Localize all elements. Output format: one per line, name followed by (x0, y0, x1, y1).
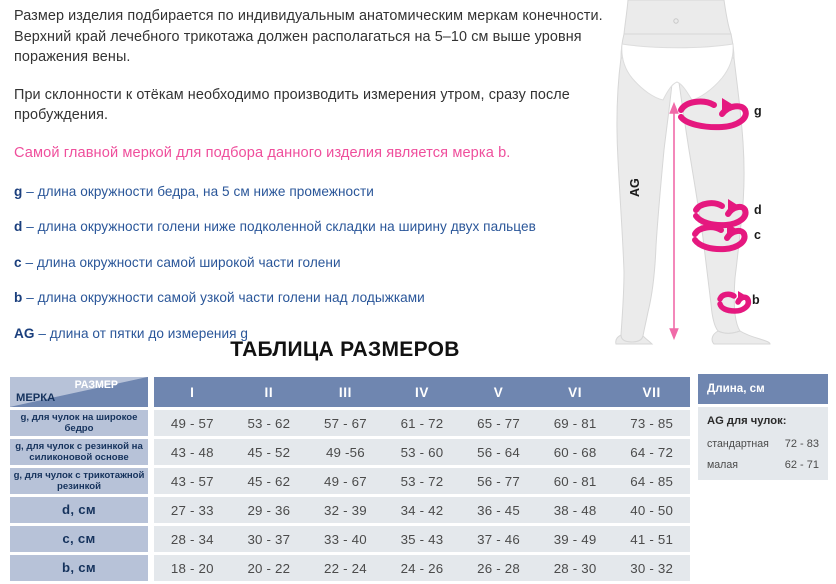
length-panel: Длина, см AG для чулок: стандартная 72 -… (698, 374, 828, 480)
ag-length-arrow-icon (670, 104, 677, 338)
table-cell: 45 - 52 (231, 439, 308, 465)
table-cell: 20 - 22 (231, 555, 308, 581)
definition-key: g (14, 184, 22, 199)
length-panel-row-small: малая 62 - 71 (707, 459, 819, 471)
table-cell: 65 - 77 (460, 410, 537, 436)
definition-dash: – (26, 219, 34, 234)
intro-highlight: Самой главной меркой для подбора данного… (14, 143, 610, 163)
table-cell: 27 - 33 (154, 497, 231, 523)
table-cell: 22 - 24 (307, 555, 384, 581)
row-label: g, для чулок с резинкой на силиконовой о… (10, 439, 148, 465)
column-header-6: VI (537, 377, 614, 407)
column-header-4: IV (384, 377, 461, 407)
table-cell: 39 - 49 (537, 526, 614, 552)
definition-key: d (14, 219, 22, 234)
table-cell: 41 - 51 (613, 526, 690, 552)
table-cell: 64 - 72 (613, 439, 690, 465)
table-cell: 40 - 50 (613, 497, 690, 523)
table-cell: 53 - 60 (384, 439, 461, 465)
figure-label-g: g (754, 104, 762, 118)
figure-label-b: b (752, 293, 760, 307)
table-row: g, для чулок на широкое бедро 49 - 57 53… (10, 410, 690, 436)
definition-text: длина окружности самой узкой части голен… (38, 290, 425, 305)
leg-measurement-diagram: g d c b AG (604, 0, 836, 345)
size-table-title: ТАБЛИЦА РАЗМЕРОВ (0, 338, 690, 362)
table-row: g, для чулок с трикотажной резинкой 43 -… (10, 468, 690, 494)
female-legs-silhouette-icon (604, 0, 836, 345)
column-header-3: III (307, 377, 384, 407)
table-cell: 43 - 57 (154, 468, 231, 494)
intro-paragraph-1: Размер изделия подбирается по индивидуал… (14, 6, 610, 68)
definition-key: b (14, 290, 22, 305)
column-header-7: VII (613, 377, 690, 407)
size-table: МЕРКА РАЗМЕР I II III IV V VI VII g, для… (10, 374, 690, 584)
row-label: g, для чулок на широкое бедро (10, 410, 148, 436)
row-label: d, см (10, 497, 148, 523)
definition-item-c: c – длина окружности самой широкой части… (14, 254, 610, 271)
table-corner-header: МЕРКА РАЗМЕР (10, 377, 148, 407)
column-header-2: II (231, 377, 308, 407)
measurement-definitions-list: g – длина окружности бедра, на 5 см ниже… (14, 183, 610, 342)
length-row-label: малая (707, 459, 738, 471)
table-row: c, см 28 - 34 30 - 37 33 - 40 35 - 43 37… (10, 526, 690, 552)
table-cell: 49 - 67 (307, 468, 384, 494)
size-table-header-row: МЕРКА РАЗМЕР I II III IV V VI VII (10, 377, 690, 407)
size-guide-page: Размер изделия подбирается по индивидуал… (0, 0, 836, 571)
table-cell: 56 - 77 (460, 468, 537, 494)
length-row-value: 62 - 71 (785, 459, 819, 471)
table-cell: 26 - 28 (460, 555, 537, 581)
table-cell: 35 - 43 (384, 526, 461, 552)
table-cell: 32 - 39 (307, 497, 384, 523)
definition-dash: – (25, 255, 33, 270)
table-cell: 28 - 30 (537, 555, 614, 581)
table-cell: 43 - 48 (154, 439, 231, 465)
corner-label-razmer: РАЗМЕР (75, 379, 118, 391)
table-cell: 38 - 48 (537, 497, 614, 523)
row-label: c, см (10, 526, 148, 552)
table-cell: 36 - 45 (460, 497, 537, 523)
table-row: b, см 18 - 20 20 - 22 22 - 24 24 - 26 26… (10, 555, 690, 581)
intro-paragraph-2: При склонности к отёкам необходимо произ… (14, 85, 610, 126)
definition-text: длина окружности голени ниже подколенной… (38, 219, 536, 234)
length-panel-body: AG для чулок: стандартная 72 - 83 малая … (698, 407, 828, 480)
definition-dash: – (26, 290, 34, 305)
length-row-value: 72 - 83 (785, 438, 819, 450)
size-table-container: МЕРКА РАЗМЕР I II III IV V VI VII g, для… (10, 374, 690, 584)
table-cell: 49 - 57 (154, 410, 231, 436)
table-cell: 56 - 64 (460, 439, 537, 465)
table-cell: 33 - 40 (307, 526, 384, 552)
corner-label-merka: МЕРКА (16, 392, 55, 404)
figure-label-d: d (754, 203, 762, 217)
table-cell: 24 - 26 (384, 555, 461, 581)
row-label: b, см (10, 555, 148, 581)
table-cell: 53 - 62 (231, 410, 308, 436)
table-cell: 53 - 72 (384, 468, 461, 494)
definition-text: длина окружности самой широкой части гол… (37, 255, 341, 270)
table-cell: 69 - 81 (537, 410, 614, 436)
table-cell: 60 - 81 (537, 468, 614, 494)
row-label: g, для чулок с трикотажной резинкой (10, 468, 148, 494)
table-cell: 30 - 32 (613, 555, 690, 581)
table-cell: 18 - 20 (154, 555, 231, 581)
table-cell: 49 -56 (307, 439, 384, 465)
table-cell: 57 - 67 (307, 410, 384, 436)
definition-item-b: b – длина окружности самой узкой части г… (14, 289, 610, 306)
table-cell: 29 - 36 (231, 497, 308, 523)
length-row-label: стандартная (707, 438, 769, 450)
definition-text: длина окружности бедра, на 5 см ниже про… (38, 184, 374, 199)
definition-item-g: g – длина окружности бедра, на 5 см ниже… (14, 183, 610, 200)
size-table-head: МЕРКА РАЗМЕР I II III IV V VI VII (10, 377, 690, 407)
figure-label-c: c (754, 228, 761, 242)
table-cell: 73 - 85 (613, 410, 690, 436)
table-cell: 61 - 72 (384, 410, 461, 436)
definition-item-d: d – длина окружности голени ниже подколе… (14, 218, 610, 235)
size-table-body: g, для чулок на широкое бедро 49 - 57 53… (10, 410, 690, 581)
table-cell: 28 - 34 (154, 526, 231, 552)
figure-label-ag: AG (628, 178, 642, 197)
table-cell: 37 - 46 (460, 526, 537, 552)
table-cell: 45 - 62 (231, 468, 308, 494)
length-panel-title: AG для чулок: (707, 415, 819, 427)
table-cell: 34 - 42 (384, 497, 461, 523)
table-row: g, для чулок с резинкой на силиконовой о… (10, 439, 690, 465)
table-cell: 60 - 68 (537, 439, 614, 465)
definition-dash: – (26, 184, 34, 199)
intro-text-column: Размер изделия подбирается по индивидуал… (14, 6, 610, 360)
table-cell: 30 - 37 (231, 526, 308, 552)
column-header-1: I (154, 377, 231, 407)
table-cell: 64 - 85 (613, 468, 690, 494)
table-row: d, см 27 - 33 29 - 36 32 - 39 34 - 42 36… (10, 497, 690, 523)
length-panel-header: Длина, см (698, 374, 828, 404)
length-panel-row-standard: стандартная 72 - 83 (707, 438, 819, 450)
definition-key: c (14, 255, 22, 270)
column-header-5: V (460, 377, 537, 407)
